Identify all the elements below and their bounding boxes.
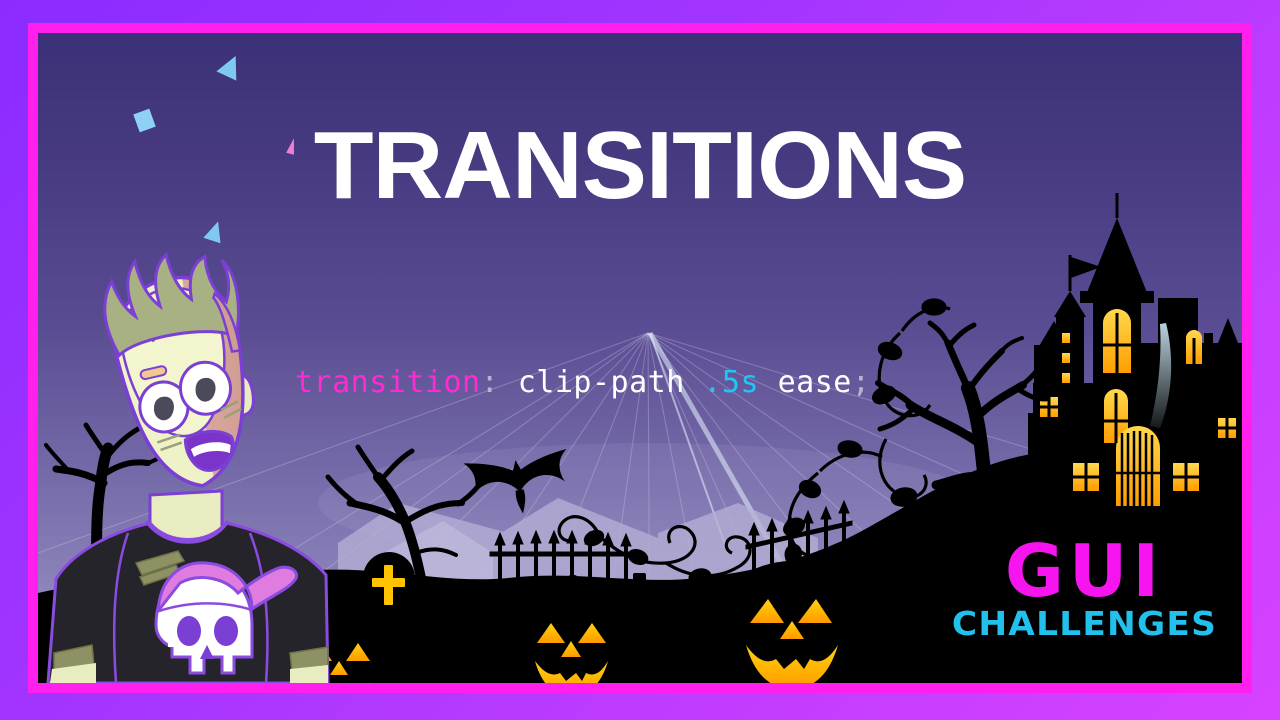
zombie-presenter-avatar [38,233,338,683]
avatar [38,233,338,683]
brand-secondary-text: CHALLENGES [952,604,1217,643]
brand-primary-text: GUI [957,542,1212,601]
gravestone-cross-yellow [363,552,415,611]
video-frame-border: TRANSITIONS transition: clip-path .5s ea… [28,23,1252,693]
brand-logo: GUI CHALLENGES [957,542,1212,643]
video-scene: TRANSITIONS transition: clip-path .5s ea… [38,33,1242,683]
castle-icon [1028,193,1242,523]
